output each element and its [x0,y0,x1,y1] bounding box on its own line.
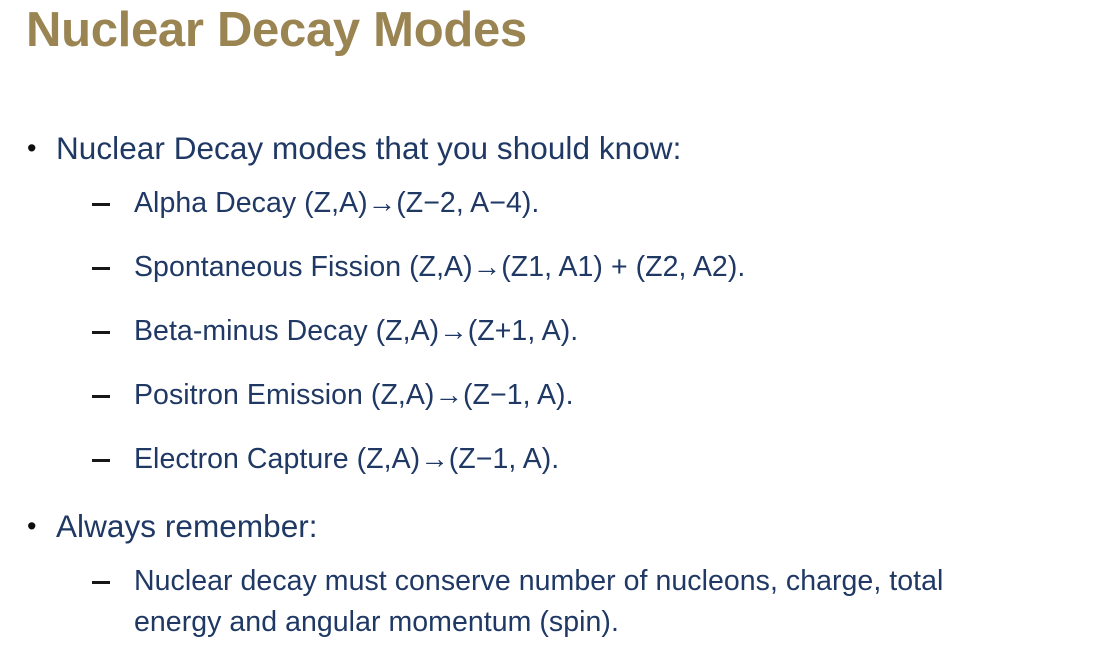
bullet-dot-icon: • [24,503,56,549]
bullet-text-line-2: energy and angular momentum (spin). [134,602,1118,643]
page-title: Nuclear Decay Modes [26,2,527,60]
slide-canvas: Nuclear Decay Modes • Nuclear Decay mode… [0,0,1118,663]
bullet-item-level2: Alpha Decay (Z,A)→(Z−2, A−4). [0,183,1118,224]
bullet-text: Nuclear Decay modes that you should know… [56,125,1118,171]
bullet-item-level2: Electron Capture (Z,A)→(Z−1, A). [0,439,1118,480]
bullet-dash-icon [92,247,134,270]
bullet-dash-icon [92,439,134,462]
bullet-text: Beta-minus Decay (Z,A)→(Z+1, A). [134,311,1118,352]
bullet-text: Alpha Decay (Z,A)→(Z−2, A−4). [134,183,1118,224]
bullet-item-level2: Spontaneous Fission (Z,A)→(Z1, A1) + (Z2… [0,247,1118,288]
bullet-text: Positron Emission (Z,A)→(Z−1, A). [134,375,1118,416]
bullet-item-level1: • Always remember: [0,503,1118,549]
bullet-item-level2: Nuclear decay must conserve number of nu… [0,561,1118,643]
bullet-dash-icon [92,561,134,584]
bullet-dot-icon: • [24,125,56,171]
bullet-text-wrapped: Nuclear decay must conserve number of nu… [134,561,1118,643]
bullet-dash-icon [92,375,134,398]
bullet-text: Electron Capture (Z,A)→(Z−1, A). [134,439,1118,480]
bullet-text: Spontaneous Fission (Z,A)→(Z1, A1) + (Z2… [134,247,1118,288]
bullet-text-line-1: Nuclear decay must conserve number of nu… [134,561,1118,602]
bullet-dash-icon [92,183,134,206]
bullet-item-level2: Positron Emission (Z,A)→(Z−1, A). [0,375,1118,416]
bullet-dash-icon [92,311,134,334]
bullet-text: Always remember: [56,503,1118,549]
slide-body: • Nuclear Decay modes that you should kn… [0,125,1118,643]
bullet-item-level1: • Nuclear Decay modes that you should kn… [0,125,1118,171]
bullet-item-level2: Beta-minus Decay (Z,A)→(Z+1, A). [0,311,1118,352]
